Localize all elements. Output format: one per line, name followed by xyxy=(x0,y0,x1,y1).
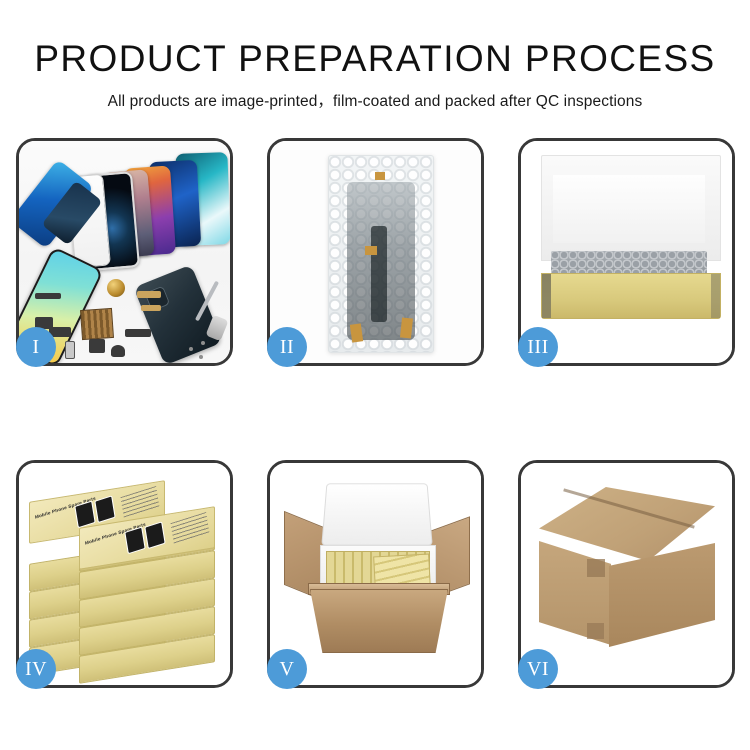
header: PRODUCT PREPARATION PROCESS All products… xyxy=(0,0,750,111)
product-preparation-infographic: PRODUCT PREPARATION PROCESS All products… xyxy=(0,0,750,750)
box-stack: Mobile Phone Spare Parts Mobile Phone Sp… xyxy=(25,485,230,675)
screw-part xyxy=(201,341,205,345)
sim-tray-part xyxy=(65,341,75,359)
step-image-3 xyxy=(521,141,732,363)
step-badge-6: VI xyxy=(518,649,558,689)
step-image-1 xyxy=(19,141,230,363)
box-label-image xyxy=(94,495,115,523)
box-lid-inner-face xyxy=(553,175,705,243)
screw-part xyxy=(199,355,203,359)
box-label-image xyxy=(144,521,165,549)
step-badge-4: IV xyxy=(16,649,56,689)
step-image-4: Mobile Phone Spare Parts Mobile Phone Sp… xyxy=(19,463,230,685)
gold-connector-part xyxy=(137,291,161,298)
carton-tape-upper xyxy=(587,559,605,577)
bubble-wrap-scene xyxy=(270,141,481,363)
step-panel-6: VI xyxy=(518,460,735,688)
carton-loading-scene xyxy=(270,463,481,685)
sealed-carton-scene xyxy=(521,463,732,685)
box-label-lines xyxy=(121,486,160,518)
stacked-boxes-scene: Mobile Phone Spare Parts Mobile Phone Sp… xyxy=(19,463,230,685)
yellow-inner-box xyxy=(541,273,721,319)
step-image-5 xyxy=(270,463,481,685)
page-title: PRODUCT PREPARATION PROCESS xyxy=(0,0,750,79)
step-badge-2: II xyxy=(267,327,307,367)
bubble-wrap-bag xyxy=(328,155,434,353)
carton-tape-lower xyxy=(587,623,604,639)
step-panel-3: III xyxy=(518,138,735,366)
screw-part xyxy=(189,347,193,351)
flex-cable-part xyxy=(35,293,61,299)
process-step-grid: I II xyxy=(16,138,735,688)
taptic-engine-part xyxy=(111,345,125,357)
step-badge-3: III xyxy=(518,327,558,367)
page-subtitle: All products are image-printed，film-coat… xyxy=(0,79,750,111)
parts-overview-scene xyxy=(19,141,230,363)
gold-connector-part-2 xyxy=(141,305,161,311)
camera-module-part xyxy=(89,339,105,353)
ribbon-cable-part xyxy=(125,329,151,337)
step-image-6 xyxy=(521,463,732,685)
carton-body xyxy=(310,589,448,653)
tape-strip xyxy=(365,246,377,255)
step-panel-4: Mobile Phone Spare Parts Mobile Phone Sp… xyxy=(16,460,233,688)
step-panel-5: V xyxy=(267,460,484,688)
step-badge-1: I xyxy=(16,327,56,367)
tape-strip xyxy=(350,323,363,342)
box-label-image xyxy=(74,501,95,529)
speaker-part-icon xyxy=(107,279,125,297)
step-badge-5: V xyxy=(267,649,307,689)
box-label-lines xyxy=(171,512,210,544)
logic-board-part xyxy=(80,308,114,340)
step-image-2 xyxy=(270,141,481,363)
box-label-image xyxy=(124,527,145,555)
step-panel-2: II xyxy=(267,138,484,366)
inner-box-scene xyxy=(521,141,732,363)
tape-strip xyxy=(400,317,413,338)
foam-lid xyxy=(321,483,432,545)
tape-strip xyxy=(375,172,385,180)
wrapped-part-flex xyxy=(371,226,387,322)
step-panel-1: I xyxy=(16,138,233,366)
